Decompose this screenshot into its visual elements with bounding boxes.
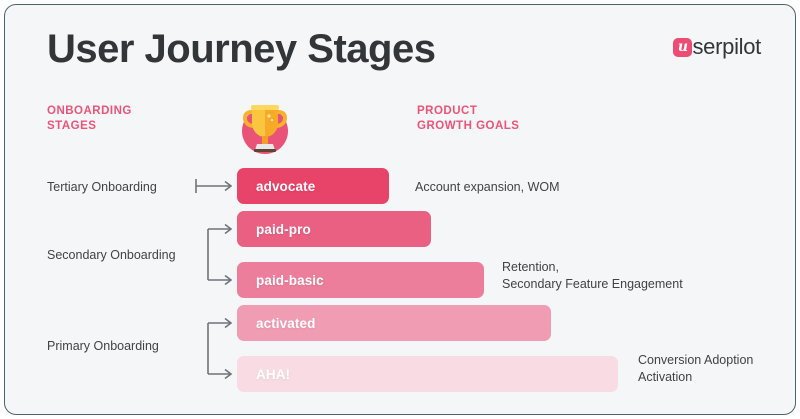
bar-label-paid-basic: paid-basic: [256, 273, 324, 288]
bar-label-advocate: advocate: [256, 179, 315, 194]
goal-text-secondary: Retention, Secondary Feature Engagement: [502, 259, 683, 293]
goal-text-tertiary: Account expansion, WOM: [415, 179, 560, 196]
bar-aha[interactable]: AHA!: [237, 356, 618, 392]
infographic-card: User Journey Stages u serpilot ONBOARDIN…: [4, 4, 796, 415]
bar-advocate[interactable]: advocate: [237, 168, 389, 204]
bar-label-paid-pro: paid-pro: [256, 222, 311, 237]
bar-label-aha: AHA!: [256, 367, 290, 382]
goal-text-primary: Conversion Adoption Activation: [638, 352, 753, 386]
bar-label-activated: activated: [256, 316, 315, 331]
bar-paid-pro[interactable]: paid-pro: [237, 211, 431, 247]
bar-paid-basic[interactable]: paid-basic: [237, 262, 484, 298]
bar-activated[interactable]: activated: [237, 305, 551, 341]
